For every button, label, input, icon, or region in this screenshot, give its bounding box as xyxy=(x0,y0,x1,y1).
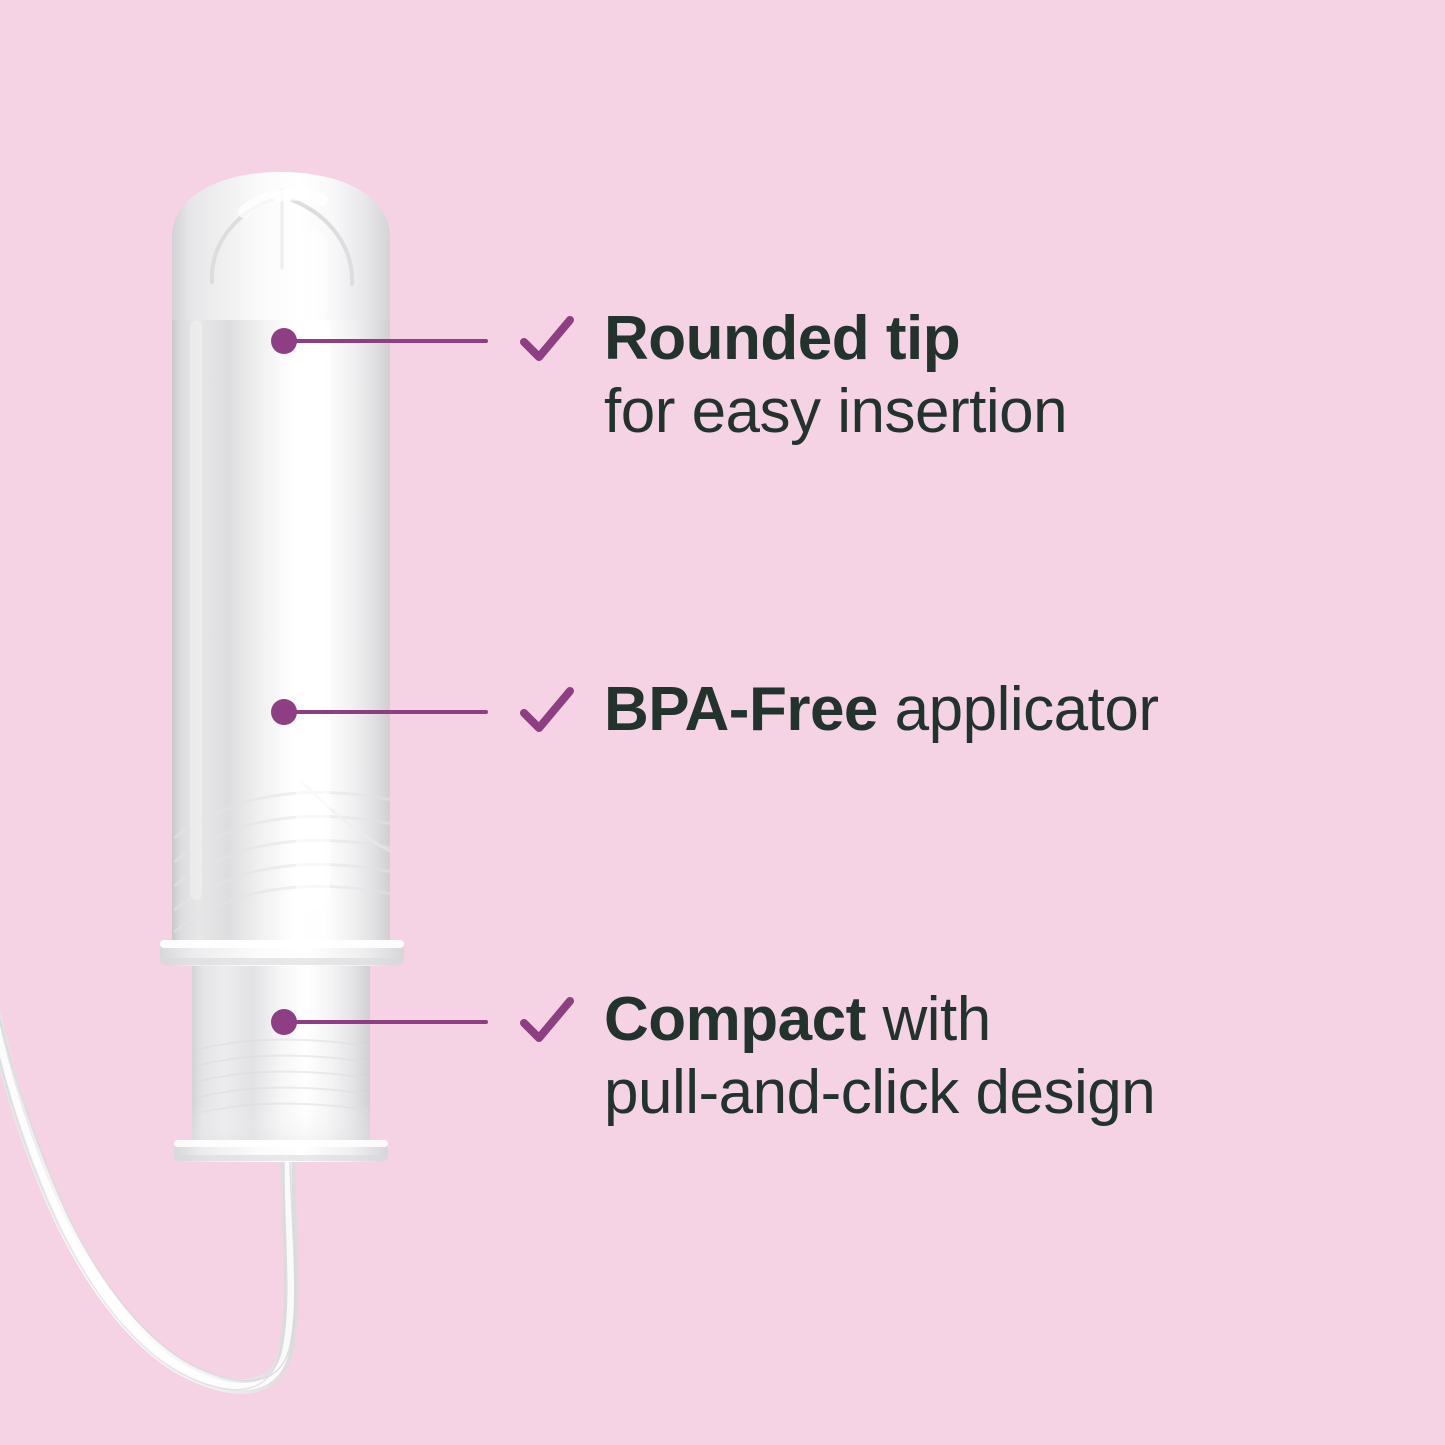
callout-line-1-light: applicator xyxy=(878,675,1159,744)
callout-line-1-strong: Rounded tip xyxy=(604,304,960,373)
flange-ring-upper xyxy=(160,940,404,966)
product-feature-infographic: Rounded tip for easy insertion BPA-Free … xyxy=(0,0,1445,1445)
applicator-barrel xyxy=(172,300,392,952)
callout-line-2-light: for easy insertion xyxy=(604,377,1067,446)
callout-line-2: for easy insertion xyxy=(604,375,1067,448)
callout-label-bpa-free: BPA-Free applicator xyxy=(604,673,1158,746)
plunger-base xyxy=(192,962,370,1158)
callout-line-1-strong: Compact xyxy=(604,985,866,1054)
leader-line xyxy=(284,339,488,343)
rounded-tip-dome xyxy=(172,172,390,326)
callout-label-compact: Compact with pull-and-click design xyxy=(604,983,1155,1129)
flange-ring-lower xyxy=(174,1140,388,1162)
callout-line-1: BPA-Free applicator xyxy=(604,673,1158,746)
callout-line-1: Compact with xyxy=(604,983,1155,1056)
leader-line xyxy=(284,1020,488,1024)
callout-label-rounded-tip: Rounded tip for easy insertion xyxy=(604,302,1067,448)
checkmark-icon xyxy=(518,681,576,739)
leader-line xyxy=(284,710,488,714)
callout-line-2-light: pull-and-click design xyxy=(604,1058,1155,1127)
callout-line-1: Rounded tip xyxy=(604,302,1067,375)
checkmark-icon xyxy=(518,310,576,368)
callout-line-2: pull-and-click design xyxy=(604,1056,1155,1129)
checkmark-icon xyxy=(518,991,576,1049)
callout-line-1-strong: BPA-Free xyxy=(604,675,878,744)
callout-line-1-light: with xyxy=(866,985,991,1054)
